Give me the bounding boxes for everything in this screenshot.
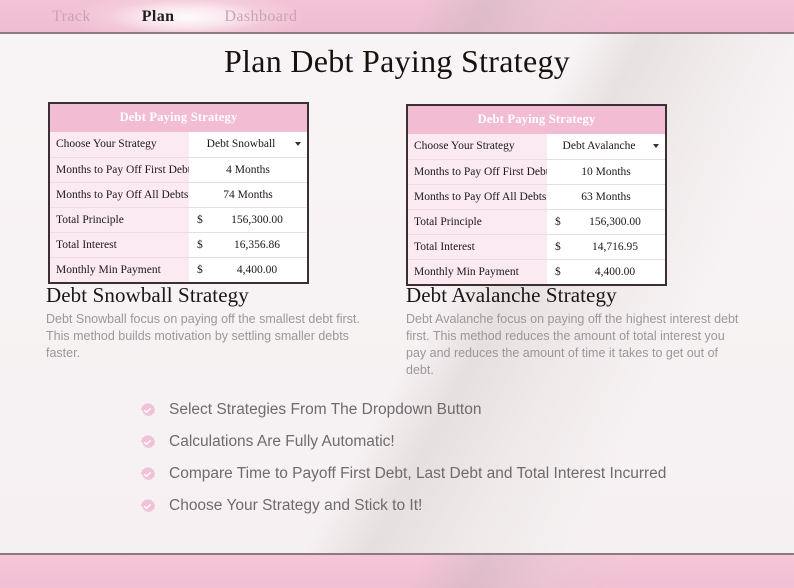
currency-amount: 14,716.95 <box>574 241 638 253</box>
table-row: Total Interest $ 14,716.95 <box>408 234 665 259</box>
row-label: Monthly Min Payment <box>50 257 189 282</box>
check-seal-icon <box>139 402 156 419</box>
row-value: $ 156,300.00 <box>547 209 665 234</box>
table-row[interactable]: Choose Your Strategy Debt Snowball <box>50 132 307 157</box>
row-label: Total Interest <box>408 234 547 259</box>
row-label: Months to Pay Off First Debt <box>50 157 189 182</box>
tab-track[interactable]: Track <box>52 8 91 26</box>
table-row: Total Interest $ 16,356.86 <box>50 232 307 257</box>
page-title: Plan Debt Paying Strategy <box>0 43 794 80</box>
debt-avalanche-description-block: Debt Avalanche Strategy Debt Avalanche f… <box>406 283 746 379</box>
row-label: Total Interest <box>50 232 189 257</box>
tab-plan[interactable]: Plan <box>142 8 175 26</box>
list-item-label: Select Strategies From The Dropdown Butt… <box>169 401 481 419</box>
chevron-down-icon[interactable] <box>653 144 659 148</box>
currency-symbol: $ <box>555 241 561 253</box>
row-label: Choose Your Strategy <box>408 134 547 159</box>
debt-snowball-description-block: Debt Snowball Strategy Debt Snowball foc… <box>46 283 376 362</box>
row-label: Total Principle <box>408 209 547 234</box>
currency-symbol: $ <box>555 266 561 278</box>
row-value: $ 16,356.86 <box>189 232 307 257</box>
list-item-label: Compare Time to Payoff First Debt, Last … <box>169 465 666 483</box>
list-item: Select Strategies From The Dropdown Butt… <box>139 396 759 424</box>
strategy-title: Debt Avalanche Strategy <box>406 283 746 308</box>
row-label: Months to Pay Off All Debts <box>50 182 189 207</box>
dropdown-value: Debt Snowball <box>207 138 276 150</box>
nav-tabs: Track Plan Dashboard <box>0 0 297 34</box>
row-value: 4 Months <box>189 157 307 182</box>
currency-amount: 156,300.00 <box>213 214 283 226</box>
row-value: $ 4,400.00 <box>547 259 665 284</box>
check-seal-icon <box>139 434 156 451</box>
chevron-down-icon[interactable] <box>295 142 301 146</box>
check-seal-icon <box>139 498 156 515</box>
bottom-decorative-bar <box>0 553 794 588</box>
table-header-right: Debt Paying Strategy <box>408 106 665 134</box>
row-label: Choose Your Strategy <box>50 132 189 157</box>
currency-amount: 16,356.86 <box>216 239 280 251</box>
table-row: Months to Pay Off First Debt 4 Months <box>50 157 307 182</box>
debt-snowball-table: Debt Paying Strategy Choose Your Strateg… <box>48 102 309 284</box>
list-item: Calculations Are Fully Automatic! <box>139 428 759 456</box>
table-row: Monthly Min Payment $ 4,400.00 <box>408 259 665 284</box>
row-value: 74 Months <box>189 182 307 207</box>
strategy-dropdown-left[interactable]: Debt Snowball <box>189 132 307 157</box>
row-value: $ 4,400.00 <box>189 257 307 282</box>
currency-amount: 4,400.00 <box>577 266 635 278</box>
row-value: 63 Months <box>547 184 665 209</box>
strategy-description: Debt Avalanche focus on paying off the h… <box>406 311 746 379</box>
feature-bullet-list: Select Strategies From The Dropdown Butt… <box>139 396 759 524</box>
row-label: Total Principle <box>50 207 189 232</box>
table-row: Total Principle $ 156,300.00 <box>408 209 665 234</box>
page-root: Track Plan Dashboard Plan Debt Paying St… <box>0 0 794 588</box>
currency-symbol: $ <box>197 214 203 226</box>
row-value: $ 14,716.95 <box>547 234 665 259</box>
currency-symbol: $ <box>197 264 203 276</box>
table-row: Months to Pay Off All Debts 63 Months <box>408 184 665 209</box>
top-navigation-bar: Track Plan Dashboard <box>0 0 794 34</box>
tab-dashboard[interactable]: Dashboard <box>224 8 297 26</box>
list-item-label: Calculations Are Fully Automatic! <box>169 433 395 451</box>
table-header-left: Debt Paying Strategy <box>50 104 307 132</box>
bottombar-sheen <box>0 555 794 588</box>
strategy-dropdown-right[interactable]: Debt Avalanche <box>547 134 665 159</box>
currency-symbol: $ <box>555 216 561 228</box>
table-row: Total Principle $ 156,300.00 <box>50 207 307 232</box>
row-value: $ 156,300.00 <box>189 207 307 232</box>
currency-amount: 4,400.00 <box>219 264 277 276</box>
table-grid-left: Choose Your Strategy Debt Snowball Month… <box>50 132 307 282</box>
table-row: Months to Pay Off All Debts 74 Months <box>50 182 307 207</box>
table-row: Months to Pay Off First Debt 10 Months <box>408 159 665 184</box>
table-row: Monthly Min Payment $ 4,400.00 <box>50 257 307 282</box>
list-item: Compare Time to Payoff First Debt, Last … <box>139 460 759 488</box>
currency-amount: 156,300.00 <box>571 216 641 228</box>
row-label: Months to Pay Off All Debts <box>408 184 547 209</box>
currency-symbol: $ <box>197 239 203 251</box>
row-value: 10 Months <box>547 159 665 184</box>
list-item-label: Choose Your Strategy and Stick to It! <box>169 497 422 515</box>
dropdown-value: Debt Avalanche <box>563 140 636 152</box>
row-label: Monthly Min Payment <box>408 259 547 284</box>
row-label: Months to Pay Off First Debt <box>408 159 547 184</box>
strategy-title: Debt Snowball Strategy <box>46 283 376 308</box>
check-seal-icon <box>139 466 156 483</box>
debt-avalanche-table: Debt Paying Strategy Choose Your Strateg… <box>406 104 667 286</box>
list-item: Choose Your Strategy and Stick to It! <box>139 492 759 520</box>
table-grid-right: Choose Your Strategy Debt Avalanche Mont… <box>408 134 665 284</box>
strategy-description: Debt Snowball focus on paying off the sm… <box>46 311 376 362</box>
table-row[interactable]: Choose Your Strategy Debt Avalanche <box>408 134 665 159</box>
